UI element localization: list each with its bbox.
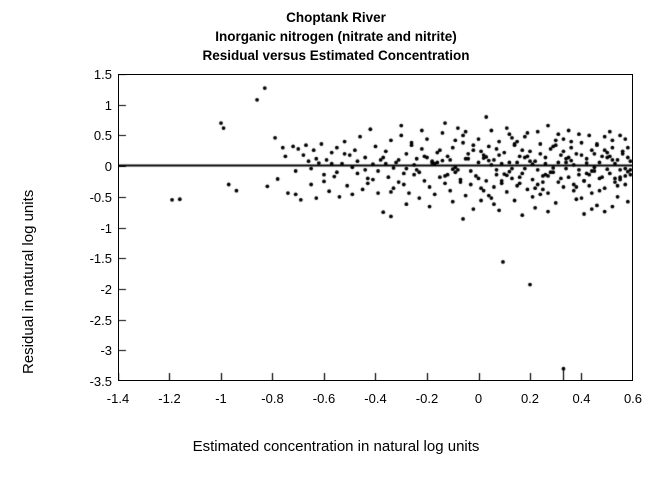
y-tick-label: 1 bbox=[56, 99, 112, 112]
y-tick-label: 1.5 bbox=[56, 68, 112, 81]
x-tick-label: 0 bbox=[454, 392, 504, 405]
plot-area bbox=[118, 74, 633, 381]
x-tick-label: 0.6 bbox=[608, 392, 658, 405]
x-tick-label: -0.4 bbox=[351, 392, 401, 405]
y-axis-label: Residual in natural log units bbox=[20, 74, 37, 374]
chart-title-block: Choptank River Inorganic nitrogen (nitra… bbox=[0, 8, 672, 65]
y-tick-label: -0.5 bbox=[56, 191, 112, 204]
y-tick-label: -2 bbox=[56, 283, 112, 296]
y-tick-label: -3.5 bbox=[56, 375, 112, 388]
x-tick-label: -0.6 bbox=[299, 392, 349, 405]
y-tick-label: 0.5 bbox=[56, 129, 112, 142]
x-tick-label: -1.2 bbox=[145, 392, 195, 405]
chart-page: Choptank River Inorganic nitrogen (nitra… bbox=[0, 0, 672, 480]
y-tick-label: -2.5 bbox=[56, 314, 112, 327]
x-axis-tick-labels: -1.4-1.2-1-0.8-0.6-0.4-0.200.20.40.6 bbox=[118, 388, 633, 408]
title-line-1: Choptank River bbox=[0, 8, 672, 27]
x-tick-label: -1.4 bbox=[93, 392, 143, 405]
y-tick-label: -3 bbox=[56, 344, 112, 357]
x-tick-label: -1 bbox=[196, 392, 246, 405]
y-tick-label: -1 bbox=[56, 222, 112, 235]
x-axis-label: Estimated concentration in natural log u… bbox=[0, 438, 672, 455]
y-axis-tick-labels: 1.510.50-0.5-1-1.5-2-2.5-3-3.5 bbox=[52, 74, 112, 381]
x-tick-label: 0.4 bbox=[557, 392, 607, 405]
x-tick-label: 0.2 bbox=[505, 392, 555, 405]
y-tick-label: -1.5 bbox=[56, 252, 112, 265]
title-line-2: Inorganic nitrogen (nitrate and nitrite) bbox=[0, 27, 672, 46]
x-tick-label: -0.2 bbox=[402, 392, 452, 405]
plot-frame bbox=[118, 74, 633, 381]
x-tick-label: -0.8 bbox=[248, 392, 298, 405]
y-tick-label: 0 bbox=[56, 160, 112, 173]
title-line-3: Residual versus Estimated Concentration bbox=[0, 46, 672, 65]
y-axis-label-holder: Residual in natural log units bbox=[26, 74, 48, 381]
